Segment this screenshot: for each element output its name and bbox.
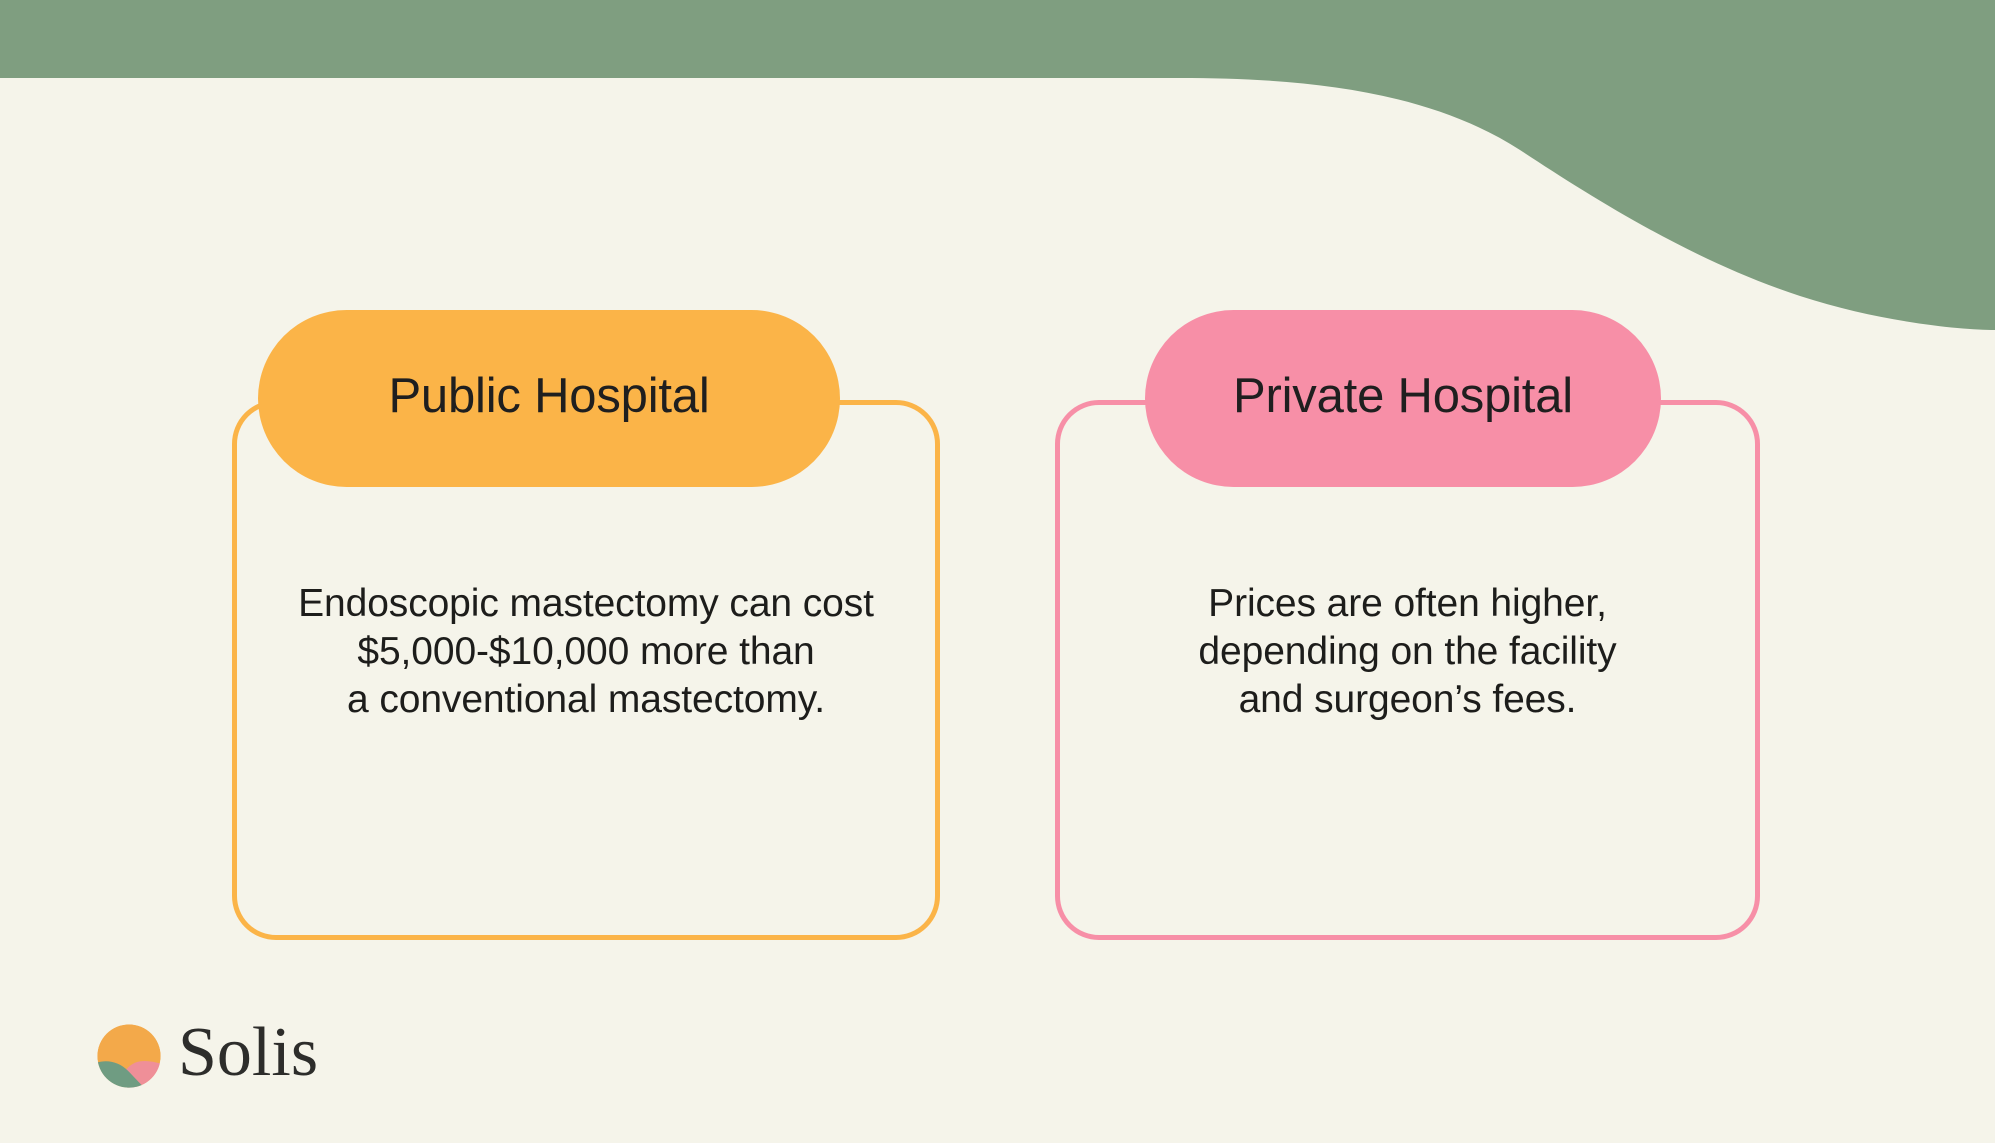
comparison-cards: Public Hospital Endoscopic mastectomy ca… (0, 0, 1995, 1143)
slide-canvas: Public Hospital Endoscopic mastectomy ca… (0, 0, 1995, 1143)
card-heading-label: Private Hospital (1233, 372, 1573, 421)
card-heading-label: Public Hospital (388, 372, 709, 421)
card-body-line: Endoscopic mastectomy can cost (232, 580, 940, 628)
card-body-line: a conventional mastectomy. (232, 676, 940, 724)
card-heading-public-hospital: Public Hospital (258, 310, 840, 487)
brand-logo: Solis (96, 1018, 318, 1094)
card-heading-private-hospital: Private Hospital (1145, 310, 1661, 487)
card-body-public-hospital: Endoscopic mastectomy can cost $5,000-$1… (232, 580, 940, 724)
sun-over-hills-icon (96, 1023, 162, 1089)
card-body-line: depending on the facility (1055, 628, 1760, 676)
brand-wordmark: Solis (178, 1018, 318, 1094)
card-body-line: and surgeon’s fees. (1055, 676, 1760, 724)
card-body-line: $5,000-$10,000 more than (232, 628, 940, 676)
card-body-line: Prices are often higher, (1055, 580, 1760, 628)
card-body-private-hospital: Prices are often higher, depending on th… (1055, 580, 1760, 724)
